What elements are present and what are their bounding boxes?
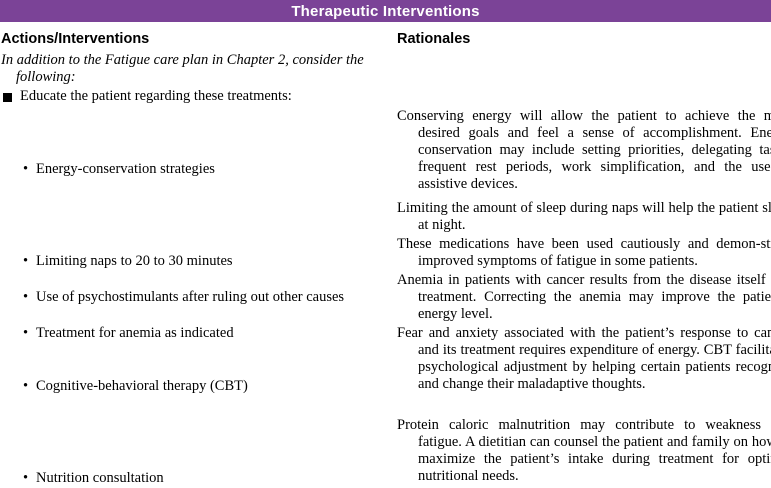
page-banner: Therapeutic Interventions [0,0,771,22]
action-item-label: Treatment for anemia as indicated [36,325,234,341]
action-item: •Energy-conservation strategies [0,161,390,178]
section-heading: Educate the patient regarding these trea… [0,88,390,105]
round-bullet-icon: • [23,325,28,342]
round-bullet-icon: • [23,378,28,395]
action-item-label: Nutrition consultation [36,470,164,486]
rationale-paragraph: Limiting the amount of sleep during naps… [397,200,771,234]
action-item: •Cognitive-behavioral therapy (CBT) [0,378,390,395]
column-header-actions: Actions/Interventions [1,31,149,47]
actions-column: In addition to the Fatigue care plan in … [0,52,390,105]
section-heading-label: Educate the patient regarding these trea… [20,88,292,104]
action-item-label: Limiting naps to 20 to 30 minutes [36,253,233,269]
round-bullet-icon: • [23,253,28,270]
rationale-paragraph: These medications have been used cautiou… [397,236,771,270]
banner-title: Therapeutic Interventions [291,3,479,20]
round-bullet-icon: • [23,161,28,178]
round-bullet-icon: • [23,470,28,487]
column-header-rationales: Rationales [397,31,470,47]
square-bullet-icon [3,93,12,102]
rationale-paragraph: Fear and anxiety associated with the pat… [397,325,771,393]
action-item: •Use of psychostimulants after ruling ou… [0,289,390,306]
action-item-label: Energy-conservation strategies [36,161,215,177]
action-item-label: Cognitive-behavioral therapy (CBT) [36,378,248,394]
round-bullet-icon: • [23,289,28,306]
intro-paragraph: In addition to the Fatigue care plan in … [0,52,391,86]
action-item: •Treatment for anemia as indicated [0,325,390,342]
action-item-label: Use of psychostimulants after ruling out… [36,289,344,305]
rationale-paragraph: Protein caloric malnutrition may contrib… [397,417,771,485]
action-item: •Limiting naps to 20 to 30 minutes [0,253,390,270]
rationale-paragraph: Conserving energy will allow the patient… [397,108,771,193]
action-item: •Nutrition consultation [0,470,390,487]
rationale-paragraph: Anemia in patients with cancer results f… [397,272,771,323]
